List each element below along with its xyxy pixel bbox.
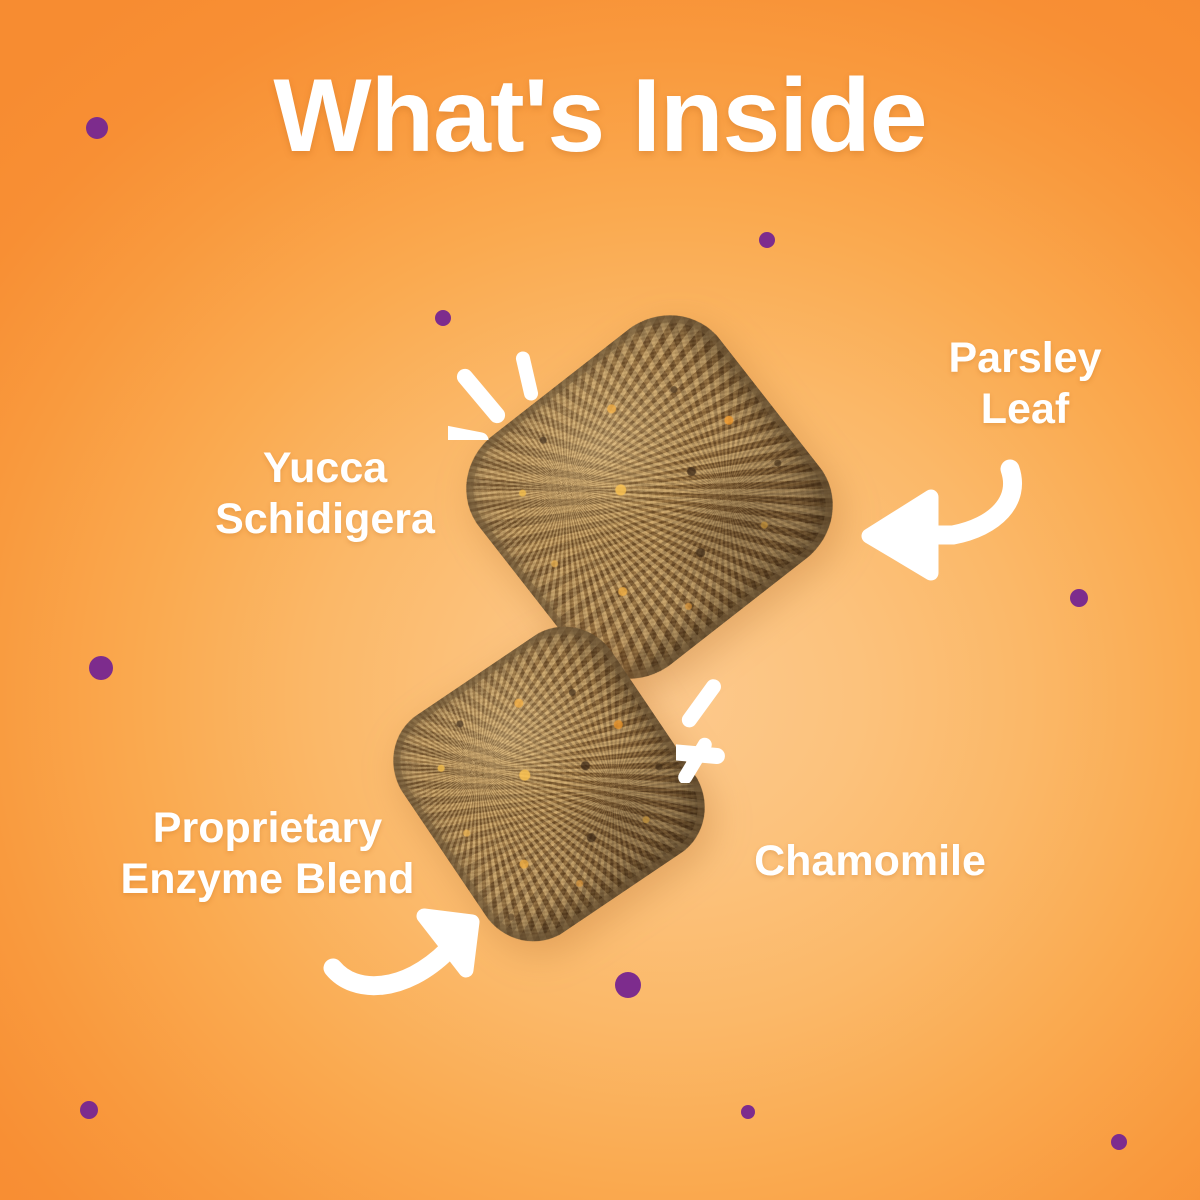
whats-inside-graphic: What's Inside Parsley Leaf Yucca Schidig… (0, 0, 1200, 1200)
decorative-dot (1111, 1134, 1127, 1150)
decorative-dot (1070, 589, 1088, 607)
ingredient-label-parsley-leaf: Parsley Leaf (880, 333, 1170, 434)
ingredient-label-chamomile: Chamomile (700, 836, 1040, 887)
arrow-to-enzyme-target-icon (320, 898, 505, 1008)
sparkle-top-left-icon (448, 345, 558, 440)
arrow-to-parsley-target-icon (835, 455, 1050, 585)
decorative-dot (89, 656, 113, 680)
page-title: What's Inside (0, 62, 1200, 171)
ingredient-label-yucca-schidigera: Yucca Schidigera (165, 443, 485, 544)
decorative-dot (741, 1105, 755, 1119)
decorative-dot (615, 972, 641, 998)
ingredient-label-proprietary-enzyme-blend: Proprietary Enzyme Blend (55, 803, 480, 904)
sparkle-bottom-right-icon (676, 673, 781, 783)
decorative-dot (80, 1101, 98, 1119)
decorative-dot (759, 232, 775, 248)
decorative-dot (435, 310, 451, 326)
